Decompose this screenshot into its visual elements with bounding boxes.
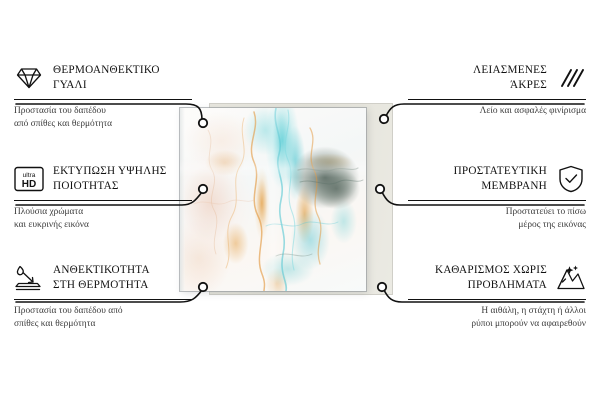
feature-description: Πλούσια χρώματα και ευκρινής εικόνα: [14, 206, 192, 233]
feature-title: ΛΕΙΑΣΜΕΝΕΣ ΆΚΡΕΣ: [473, 63, 547, 93]
ultra-hd-icon-label-top: ultra: [23, 172, 36, 179]
feature-divider: [408, 99, 586, 100]
feature-description: Προστασία του δαπέδου από σπίθες και θερ…: [14, 305, 192, 332]
feature-title: ΘΕΡΜΟΑΝΘΕΚΤΙΚΟ ΓΥΑΛΙ: [53, 63, 160, 93]
ultra-hd-icon: ultra HD: [14, 164, 44, 194]
feature-divider: [408, 200, 586, 201]
feature-description: Προστατεύει το πίσω μέρος της εικόνας: [408, 206, 586, 233]
feature-divider: [408, 299, 586, 300]
feature-divider: [14, 299, 192, 300]
feature-header: ΘΕΡΜΟΑΝΘΕΚΤΙΚΟ ΓΥΑΛΙ: [14, 62, 192, 94]
product-feature-infographic: ΘΕΡΜΟΑΝΘΕΚΤΙΚΟ ΓΥΑΛΙ Προστασία του δαπέδ…: [0, 0, 600, 400]
easy-cleaning-icon: [556, 263, 586, 293]
diamond-icon: [14, 63, 44, 93]
feature-divider: [14, 99, 192, 100]
ink-vein-overlay: [180, 108, 366, 291]
feature-block-high-quality-print: ultra HD ΕΚΤΥΠΩΣΗ ΥΨΗΛΗΣ ΠΟΙΟΤΗΤΑΣ Πλούσ…: [14, 163, 192, 233]
feature-divider: [14, 200, 192, 201]
feature-description: Η αιθάλη, η στάχτη ή άλλοι ρύποι μπορούν…: [408, 305, 586, 332]
feature-block-easy-cleaning: ΚΑΘΑΡΙΣΜΟΣ ΧΩΡΙΣ ΠΡΟΒΛΗΜΑΤΑ Η αιθάλη, η …: [408, 262, 586, 332]
shield-check-icon: [556, 164, 586, 194]
heat-resistance-icon: [14, 263, 44, 293]
feature-header: ΚΑΘΑΡΙΣΜΟΣ ΧΩΡΙΣ ΠΡΟΒΛΗΜΑΤΑ: [408, 262, 586, 294]
feature-title: ΚΑΘΑΡΙΣΜΟΣ ΧΩΡΙΣ ΠΡΟΒΛΗΜΑΤΑ: [435, 263, 547, 293]
feature-block-protective-film: ΠΡΟΣΤΑΤΕΥΤΙΚΗ ΜΕΜΒΡΑΝΗ Προστατεύει το πί…: [408, 163, 586, 233]
feature-header: ΛΕΙΑΣΜΕΝΕΣ ΆΚΡΕΣ: [408, 62, 586, 94]
feature-description: Λείο και ασφαλές φινίρισμα: [408, 105, 586, 118]
feature-title: ΕΚΤΥΠΩΣΗ ΥΨΗΛΗΣ ΠΟΙΟΤΗΤΑΣ: [53, 164, 167, 194]
feature-header: ΠΡΟΣΤΑΤΕΥΤΙΚΗ ΜΕΜΒΡΑΝΗ: [408, 163, 586, 195]
feature-header: ultra HD ΕΚΤΥΠΩΣΗ ΥΨΗΛΗΣ ΠΟΙΟΤΗΤΑΣ: [14, 163, 192, 195]
polished-edges-icon: [556, 63, 586, 93]
feature-block-thermal-glass: ΘΕΡΜΟΑΝΘΕΚΤΙΚΟ ΓΥΑΛΙ Προστασία του δαπέδ…: [14, 62, 192, 132]
feature-block-heat-resistance: ΑΝΘΕΚΤΙΚΟΤΗΤΑ ΣΤΗ ΘΕΡΜΟΤΗΤΑ Προστασία το…: [14, 262, 192, 332]
feature-title: ΠΡΟΣΤΑΤΕΥΤΙΚΗ ΜΕΜΒΡΑΝΗ: [454, 164, 547, 194]
glass-panel-artwork: [180, 108, 366, 291]
feature-description: Προστασία του δαπέδου από σπίθες και θερ…: [14, 105, 192, 132]
ultra-hd-icon-label-bottom: HD: [22, 179, 36, 190]
feature-header: ΑΝΘΕΚΤΙΚΟΤΗΤΑ ΣΤΗ ΘΕΡΜΟΤΗΤΑ: [14, 262, 192, 294]
product-image-stage: [180, 108, 392, 292]
feature-title: ΑΝΘΕΚΤΙΚΟΤΗΤΑ ΣΤΗ ΘΕΡΜΟΤΗΤΑ: [53, 263, 150, 293]
feature-block-polished-edges: ΛΕΙΑΣΜΕΝΕΣ ΆΚΡΕΣ Λείο και ασφαλές φινίρι…: [408, 62, 586, 118]
